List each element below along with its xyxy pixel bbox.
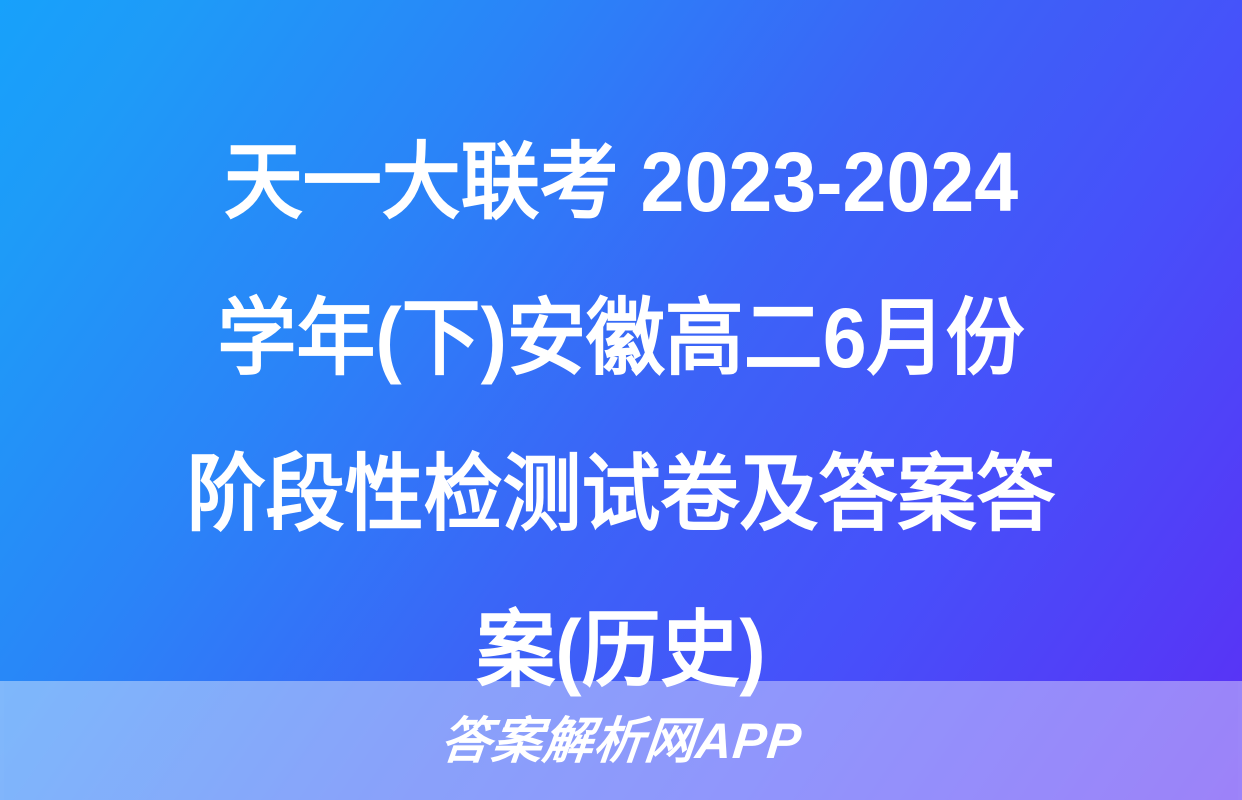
poster-headline: 天一大联考 2023-2024 学年(下)安徽高二6月份 阶段性检测试卷及答案答… — [37, 104, 1204, 728]
app-brand-label: 答案解析网APP — [438, 716, 804, 766]
headline-line-1: 天一大联考 2023-2024 — [124, 104, 1119, 260]
headline-line-3: 阶段性检测试卷及答案答 — [124, 416, 1119, 572]
headline-line-2: 学年(下)安徽高二6月份 — [124, 260, 1119, 416]
app-watermark-banner: 答案解析网APP — [0, 681, 1242, 800]
exam-poster-card: 天一大联考 2023-2024 学年(下)安徽高二6月份 阶段性检测试卷及答案答… — [0, 0, 1242, 800]
